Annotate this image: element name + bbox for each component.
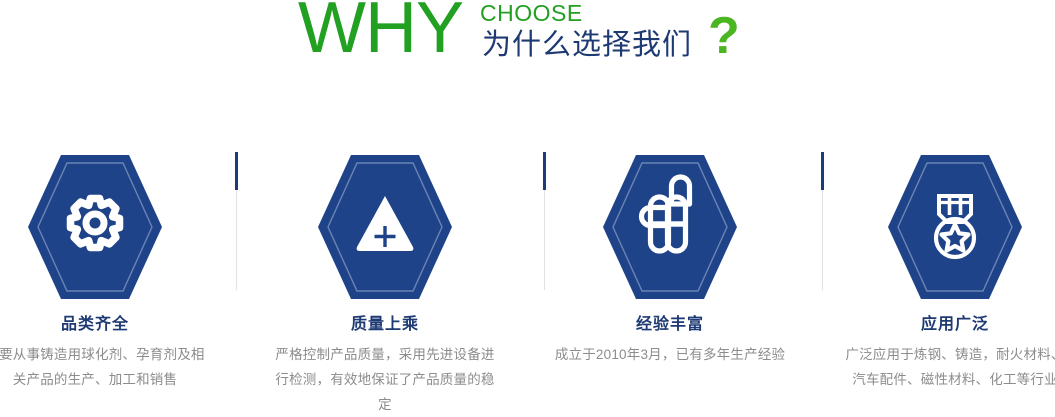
feature-column-1: 品类齐全 主要从事铸造用球化剂、孕育剂及相关产品的生产、加工和销售: [0, 140, 211, 416]
hexagon-badge-2: [317, 152, 453, 302]
feature-title-3: 经验丰富: [554, 315, 786, 335]
section-header: WHY CHOOSE 为什么选择我们 ?: [0, 0, 1055, 92]
header-title-group: WHY CHOOSE 为什么选择我们 ?: [298, 0, 768, 92]
divider-accent-segment: [235, 152, 238, 190]
hexagon-badge-1: [27, 152, 163, 302]
feature-title-1: 品类齐全: [0, 315, 211, 335]
feature-title-4: 应用广泛: [839, 315, 1055, 335]
feature-column-4: 应用广泛 广泛应用于炼钢、铸造，耐火材料、汽车配件、磁性材料、化工等行业: [839, 140, 1055, 416]
divider-line-segment: [544, 190, 545, 290]
feature-description-4: 广泛应用于炼钢、铸造，耐火材料、汽车配件、磁性材料、化工等行业: [839, 342, 1055, 392]
divider-line-segment: [822, 190, 823, 290]
headline-choose: CHOOSE: [480, 2, 583, 25]
divider-line-segment: [236, 190, 237, 290]
hexagon-badge-4: [887, 152, 1023, 302]
divider-accent-segment: [543, 152, 546, 190]
feature-title-2: 质量上乘: [269, 315, 501, 335]
headline-question-mark: ?: [708, 10, 740, 62]
feature-columns: 品类齐全 主要从事铸造用球化剂、孕育剂及相关产品的生产、加工和销售 质量上乘 严…: [0, 140, 1055, 416]
divider-accent-segment: [821, 152, 824, 190]
headline-why: WHY: [298, 0, 463, 64]
feature-description-3: 成立于2010年3月，已有多年生产经验: [554, 342, 786, 367]
headline-chinese-subtitle: 为什么选择我们: [482, 28, 692, 62]
feature-column-2: 质量上乘 严格控制产品质量，采用先进设备进行检测，有效地保证了产品质量的稳定: [269, 140, 501, 416]
feature-column-3: 经验丰富 成立于2010年3月，已有多年生产经验: [554, 140, 786, 416]
feature-description-1: 主要从事铸造用球化剂、孕育剂及相关产品的生产、加工和销售: [0, 342, 211, 392]
feature-description-2: 严格控制产品质量，采用先进设备进行检测，有效地保证了产品质量的稳定: [269, 342, 501, 417]
hexagon-badge-3: [602, 152, 738, 302]
